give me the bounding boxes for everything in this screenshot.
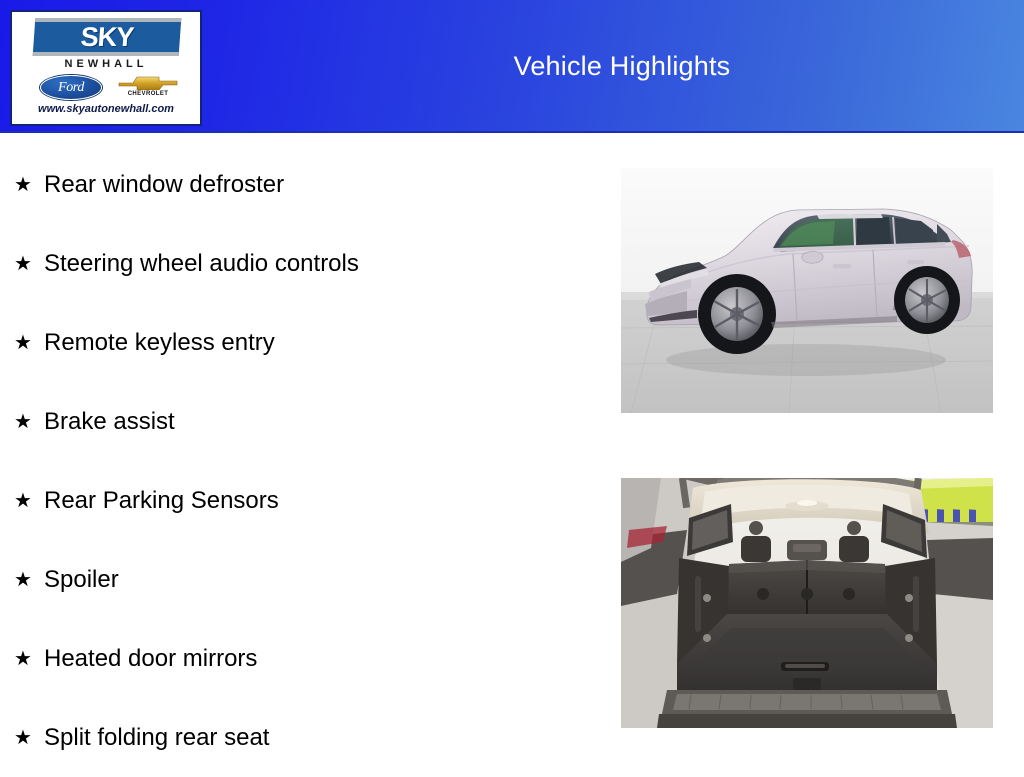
- feature-label: Remote keyless entry: [44, 329, 275, 357]
- star-bullet-icon: ★: [14, 254, 44, 274]
- chevrolet-logo-text: CHEVROLET: [117, 91, 179, 97]
- star-bullet-icon: ★: [14, 728, 44, 748]
- star-bullet-icon: ★: [14, 175, 44, 195]
- list-item: ★ Spoiler: [0, 540, 600, 619]
- list-item: ★ Remote keyless entry: [0, 303, 600, 382]
- feature-label: Rear window defroster: [44, 171, 284, 199]
- star-bullet-icon: ★: [14, 570, 44, 590]
- feature-label: Split folding rear seat: [44, 724, 269, 752]
- list-item: ★ Rear Parking Sensors: [0, 461, 600, 540]
- ford-logo-text: Ford: [41, 76, 101, 99]
- vehicle-features-list: ★ Rear window defroster ★ Steering wheel…: [0, 145, 600, 777]
- list-item: ★ Split folding rear seat: [0, 698, 600, 777]
- feature-label: Heated door mirrors: [44, 645, 257, 673]
- vehicle-exterior-photo[interactable]: [621, 168, 993, 413]
- list-item: ★ Rear window defroster: [0, 145, 600, 224]
- dealer-website-text: www.skyautonewhall.com: [12, 103, 200, 115]
- feature-label: Rear Parking Sensors: [44, 487, 279, 515]
- dealer-location-text: NEWHALL: [12, 58, 200, 70]
- ford-logo-icon: Ford: [40, 75, 102, 100]
- star-bullet-icon: ★: [14, 649, 44, 669]
- vehicle-cargo-photo[interactable]: [621, 478, 993, 728]
- feature-label: Steering wheel audio controls: [44, 250, 359, 278]
- feature-label: Brake assist: [44, 408, 175, 436]
- star-bullet-icon: ★: [14, 333, 44, 353]
- list-item: ★ Heated door mirrors: [0, 619, 600, 698]
- sky-brand-text: SKY: [33, 18, 182, 56]
- page-title: Vehicle Highlights: [220, 0, 1024, 133]
- dealer-logo-inner: SKY NEWHALL Ford CHEVROLET: [12, 12, 200, 124]
- star-bullet-icon: ★: [14, 412, 44, 432]
- list-item: ★ Brake assist: [0, 382, 600, 461]
- list-item: ★ Steering wheel audio controls: [0, 224, 600, 303]
- chevrolet-bowtie-icon: [117, 74, 179, 102]
- dealer-logo[interactable]: SKY NEWHALL Ford CHEVROLET: [10, 10, 202, 126]
- star-bullet-icon: ★: [14, 491, 44, 511]
- feature-label: Spoiler: [44, 566, 119, 594]
- franchise-badges: Ford CHEVROLET: [12, 74, 200, 102]
